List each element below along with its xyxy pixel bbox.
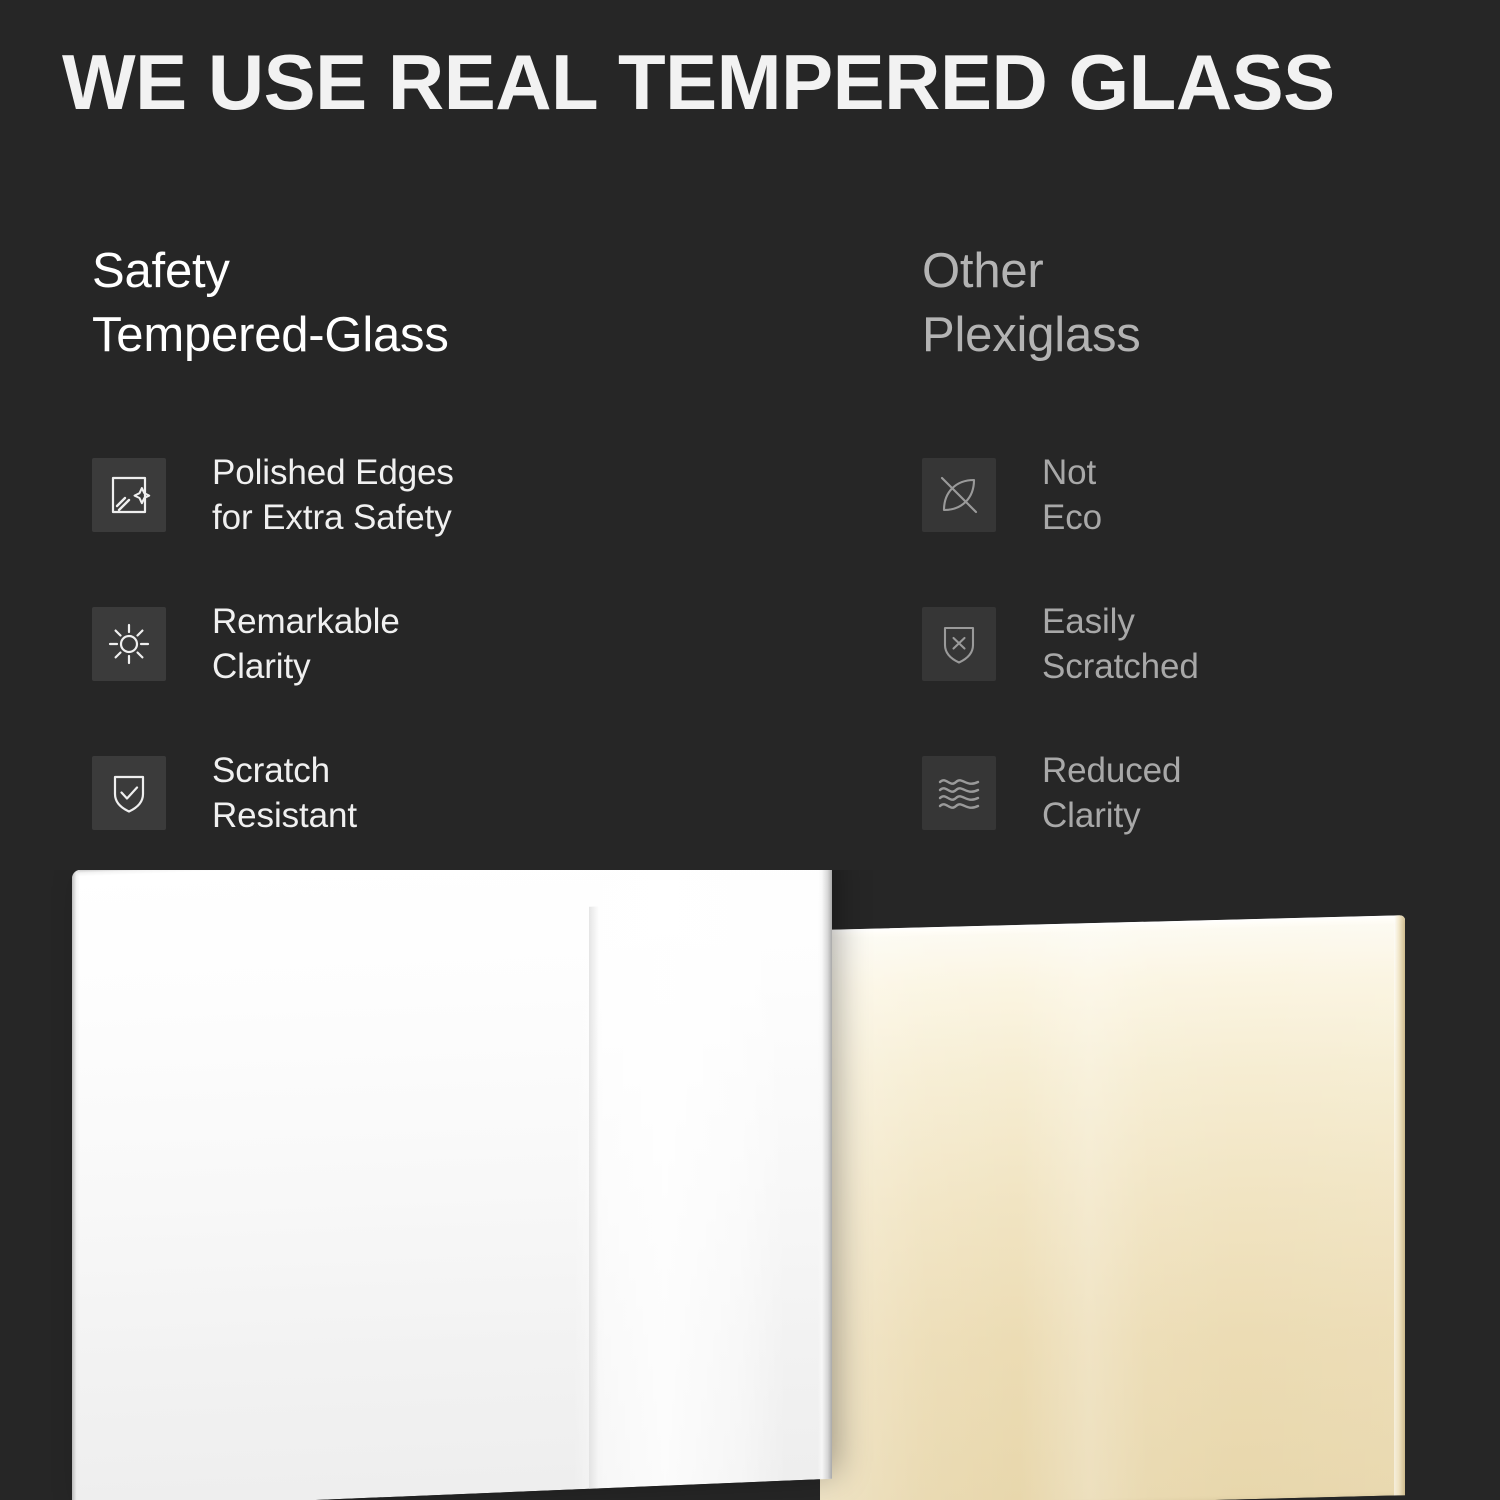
page-title: WE USE REAL TEMPERED GLASS (62, 42, 1462, 124)
feature-label: Not Eco (1042, 450, 1102, 541)
feature-not-eco: Not Eco (922, 455, 1500, 535)
column-other-plexiglass: Other Plexiglass Not Eco (0, 240, 1500, 833)
product-panels (0, 870, 1500, 1500)
safety-tempered-glass-panel (72, 870, 832, 1500)
wavy-lines-icon (922, 756, 996, 830)
plexiglass-right-bevel (1394, 915, 1405, 1495)
glass-left-bevel (72, 870, 80, 1500)
leaf-crossed-out-icon (922, 458, 996, 532)
shield-x-icon (922, 607, 996, 681)
feature-reduced-clarity: Reduced Clarity (922, 753, 1500, 833)
plexiglass-top-bevel (820, 915, 1405, 939)
column-title-right: Other Plexiglass (922, 240, 1500, 367)
glass-right-bevel (818, 870, 832, 1479)
feature-label: Easily Scratched (1042, 599, 1199, 690)
feature-easily-scratched: Easily Scratched (922, 604, 1500, 684)
feature-list-right: Not Eco Easily Scratched (922, 455, 1500, 833)
comparison-columns: Safety Tempered-Glass Polished Edges for… (0, 240, 1500, 833)
glass-reflection-sheen (589, 906, 599, 1489)
feature-label: Reduced Clarity (1042, 748, 1181, 839)
other-plexiglass-panel (820, 915, 1405, 1500)
glass-top-bevel (72, 870, 832, 881)
infographic-root: WE USE REAL TEMPERED GLASS Safety Temper… (0, 0, 1500, 1500)
